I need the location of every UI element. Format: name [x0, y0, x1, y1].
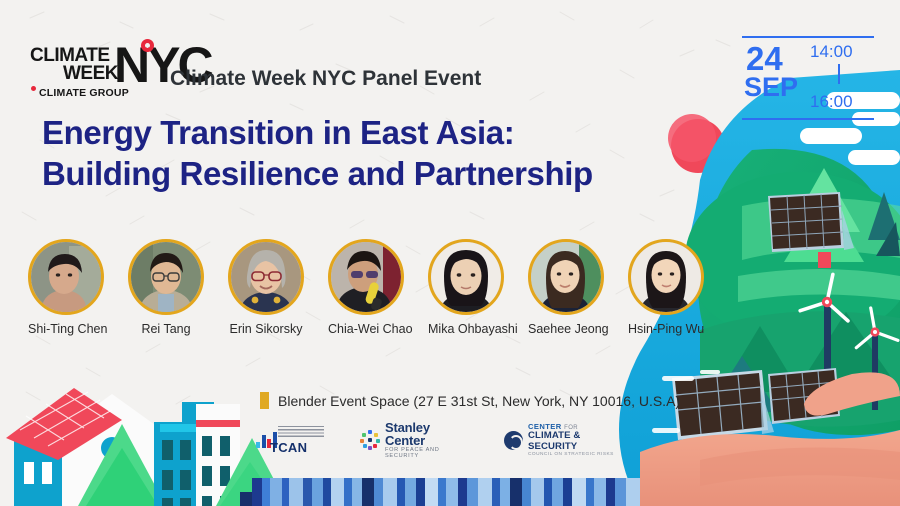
- speaker-name: Hsin-Ping Wu: [628, 322, 704, 336]
- location-marker-icon: [260, 392, 269, 409]
- globe-icon: [504, 431, 523, 450]
- title-line-2: Building Resilience and Partnership: [42, 153, 593, 194]
- avatar-portrait: [431, 242, 501, 312]
- partner-subtext-block: [278, 426, 324, 437]
- partner-name-tcan: TCAN: [270, 440, 307, 455]
- avatar-portrait: [331, 242, 401, 312]
- cityscape: [6, 388, 288, 506]
- partner-tagline-ccs: COUNCIL ON STRATEGIC RISKS: [528, 452, 632, 457]
- speaker-card: Erin Sikorsky: [228, 239, 304, 336]
- speaker-card: Mika Ohbayashi: [428, 239, 504, 336]
- speaker-card: Chia-Wei Chao: [328, 239, 404, 336]
- avatar: [328, 239, 404, 315]
- speaker-card: Saehee Jeong: [528, 239, 604, 336]
- date-badge: 24 SEP 14:00 16:00: [742, 36, 874, 120]
- avatar-portrait: [531, 242, 601, 312]
- climate-week-nyc-logo: CLIMATE WEEK CLIMATE GROUP NYC: [28, 36, 176, 106]
- avatar-portrait: [631, 242, 701, 312]
- speaker-name: Saehee Jeong: [528, 322, 604, 336]
- speaker-name: Shi-Ting Chen: [28, 322, 104, 336]
- avatar: [628, 239, 704, 315]
- red-ring-icon: [141, 39, 154, 52]
- date-day: 24: [746, 42, 783, 75]
- venue-line: Blender Event Space (27 E 31st St, New Y…: [260, 392, 680, 409]
- partner-name-ccs: CLIMATE & SECURITY: [528, 431, 632, 452]
- avatar: [28, 239, 104, 315]
- speaker-card: Hsin-Ping Wu: [628, 239, 704, 336]
- time-separator: [838, 64, 840, 84]
- event-kicker: Climate Week NYC Panel Event: [170, 67, 481, 91]
- avatar-portrait: [231, 242, 301, 312]
- avatar: [528, 239, 604, 315]
- partner-name-stanley: Stanley Center: [385, 421, 472, 448]
- avatar-portrait: [31, 242, 101, 312]
- speaker-card: Rei Tang: [128, 239, 204, 336]
- speaker-list: Shi-Ting Chen: [28, 239, 704, 336]
- event-poster: CLIMATE WEEK CLIMATE GROUP NYC Climate W…: [0, 0, 900, 506]
- speaker-card: Shi-Ting Chen: [28, 239, 104, 336]
- end-time: 16:00: [810, 93, 874, 110]
- venue-text: Blender Event Space (27 E 31st St, New Y…: [278, 393, 680, 409]
- date-rule-bottom: [742, 118, 874, 120]
- speaker-name: Mika Ohbayashi: [428, 322, 504, 336]
- partner-logo-ccs: CENTER FOR CLIMATE & SECURITY COUNCIL ON…: [504, 425, 632, 455]
- speaker-name: Erin Sikorsky: [228, 322, 304, 336]
- logo-line-week: WEEK: [63, 64, 118, 83]
- starburst-icon: [360, 430, 380, 450]
- partner-logos: TCAN Stanley Center FOR PEACE: [256, 425, 632, 455]
- date-rule-top: [742, 36, 874, 38]
- partner-tagline-stanley: FOR PEACE AND SECURITY: [385, 448, 472, 460]
- date-month: SEP: [744, 74, 798, 101]
- partner-logo-tcan: TCAN: [256, 425, 328, 455]
- avatar: [128, 239, 204, 315]
- avatar-portrait: [131, 242, 201, 312]
- partner-logo-stanley-center: Stanley Center FOR PEACE AND SECURITY: [360, 425, 472, 455]
- red-dot-icon: [31, 86, 36, 91]
- title-line-1: Energy Transition in East Asia:: [42, 112, 593, 153]
- page-title: Energy Transition in East Asia: Building…: [42, 112, 593, 195]
- avatar: [428, 239, 504, 315]
- avatar: [228, 239, 304, 315]
- time-range: 14:00 16:00: [810, 43, 874, 110]
- start-time: 14:00: [810, 43, 874, 60]
- bottom-stripe-bar: [250, 478, 900, 506]
- speaker-name: Rei Tang: [128, 322, 204, 336]
- speaker-name: Chia-Wei Chao: [328, 322, 404, 336]
